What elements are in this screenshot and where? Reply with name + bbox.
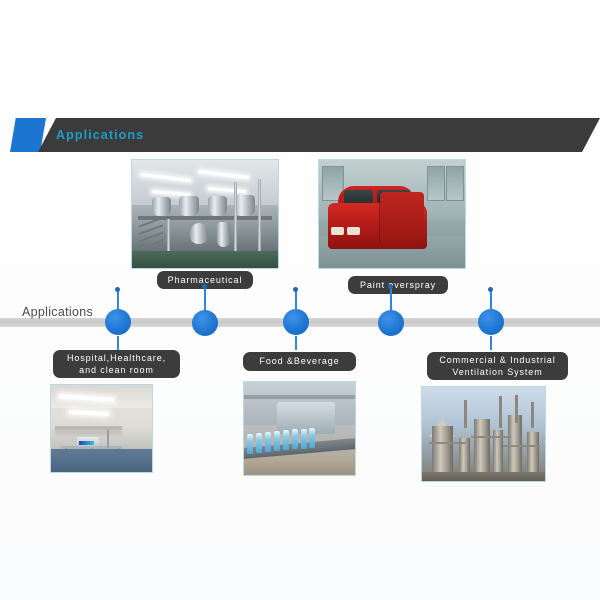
label-hospital-healthcare-cleanroom[interactable]: Hospital,Healthcare, and clean room: [53, 350, 180, 378]
connector-dot-5: [488, 287, 493, 292]
label-commercial-industrial-ventilation[interactable]: Commercial & Industrial Ventilation Syst…: [427, 352, 568, 380]
applications-banner: Applications: [0, 118, 600, 152]
timeline-title: Applications: [22, 305, 93, 319]
photo-card-food-beverage[interactable]: [243, 381, 356, 476]
hospital-cleanroom-image: [51, 385, 152, 472]
connector-stem-2: [204, 287, 206, 311]
connector-dot-2: [202, 284, 207, 289]
timeline-node-1[interactable]: [105, 309, 131, 335]
photo-card-pharmaceutical[interactable]: [131, 159, 279, 269]
label-paint-overspray[interactable]: Paint overspray: [348, 276, 448, 294]
connector-stem-down-5: [490, 336, 492, 350]
banner-title: Applications: [56, 118, 144, 152]
photo-card-industrial-ventilation[interactable]: [421, 386, 546, 482]
timeline-node-2[interactable]: [192, 310, 218, 336]
beverage-bottling-image: [244, 382, 355, 475]
connector-stem-3: [295, 290, 297, 310]
connector-stem-down-3: [295, 336, 297, 350]
label-food-beverage[interactable]: Food &Beverage: [243, 352, 356, 371]
application-page: Applications Pharmaceutical: [0, 0, 600, 600]
connector-dot-1: [115, 287, 120, 292]
timeline-node-4[interactable]: [378, 310, 404, 336]
timeline-node-3[interactable]: [283, 309, 309, 335]
connector-stem-down-1: [117, 336, 119, 350]
connector-stem-4: [390, 287, 392, 311]
connector-dot-3: [293, 287, 298, 292]
industrial-refinery-image: [422, 387, 545, 481]
banner-accent-tab: [10, 118, 46, 152]
connector-stem-1: [117, 290, 119, 310]
photo-card-hospital-cleanroom[interactable]: [50, 384, 153, 473]
timeline-node-5[interactable]: [478, 309, 504, 335]
connector-stem-5: [490, 290, 492, 310]
photo-card-paint-overspray[interactable]: [318, 159, 466, 269]
connector-dot-4: [388, 284, 393, 289]
paint-booth-image: [319, 160, 465, 268]
pharmaceutical-plant-image: [132, 160, 278, 268]
